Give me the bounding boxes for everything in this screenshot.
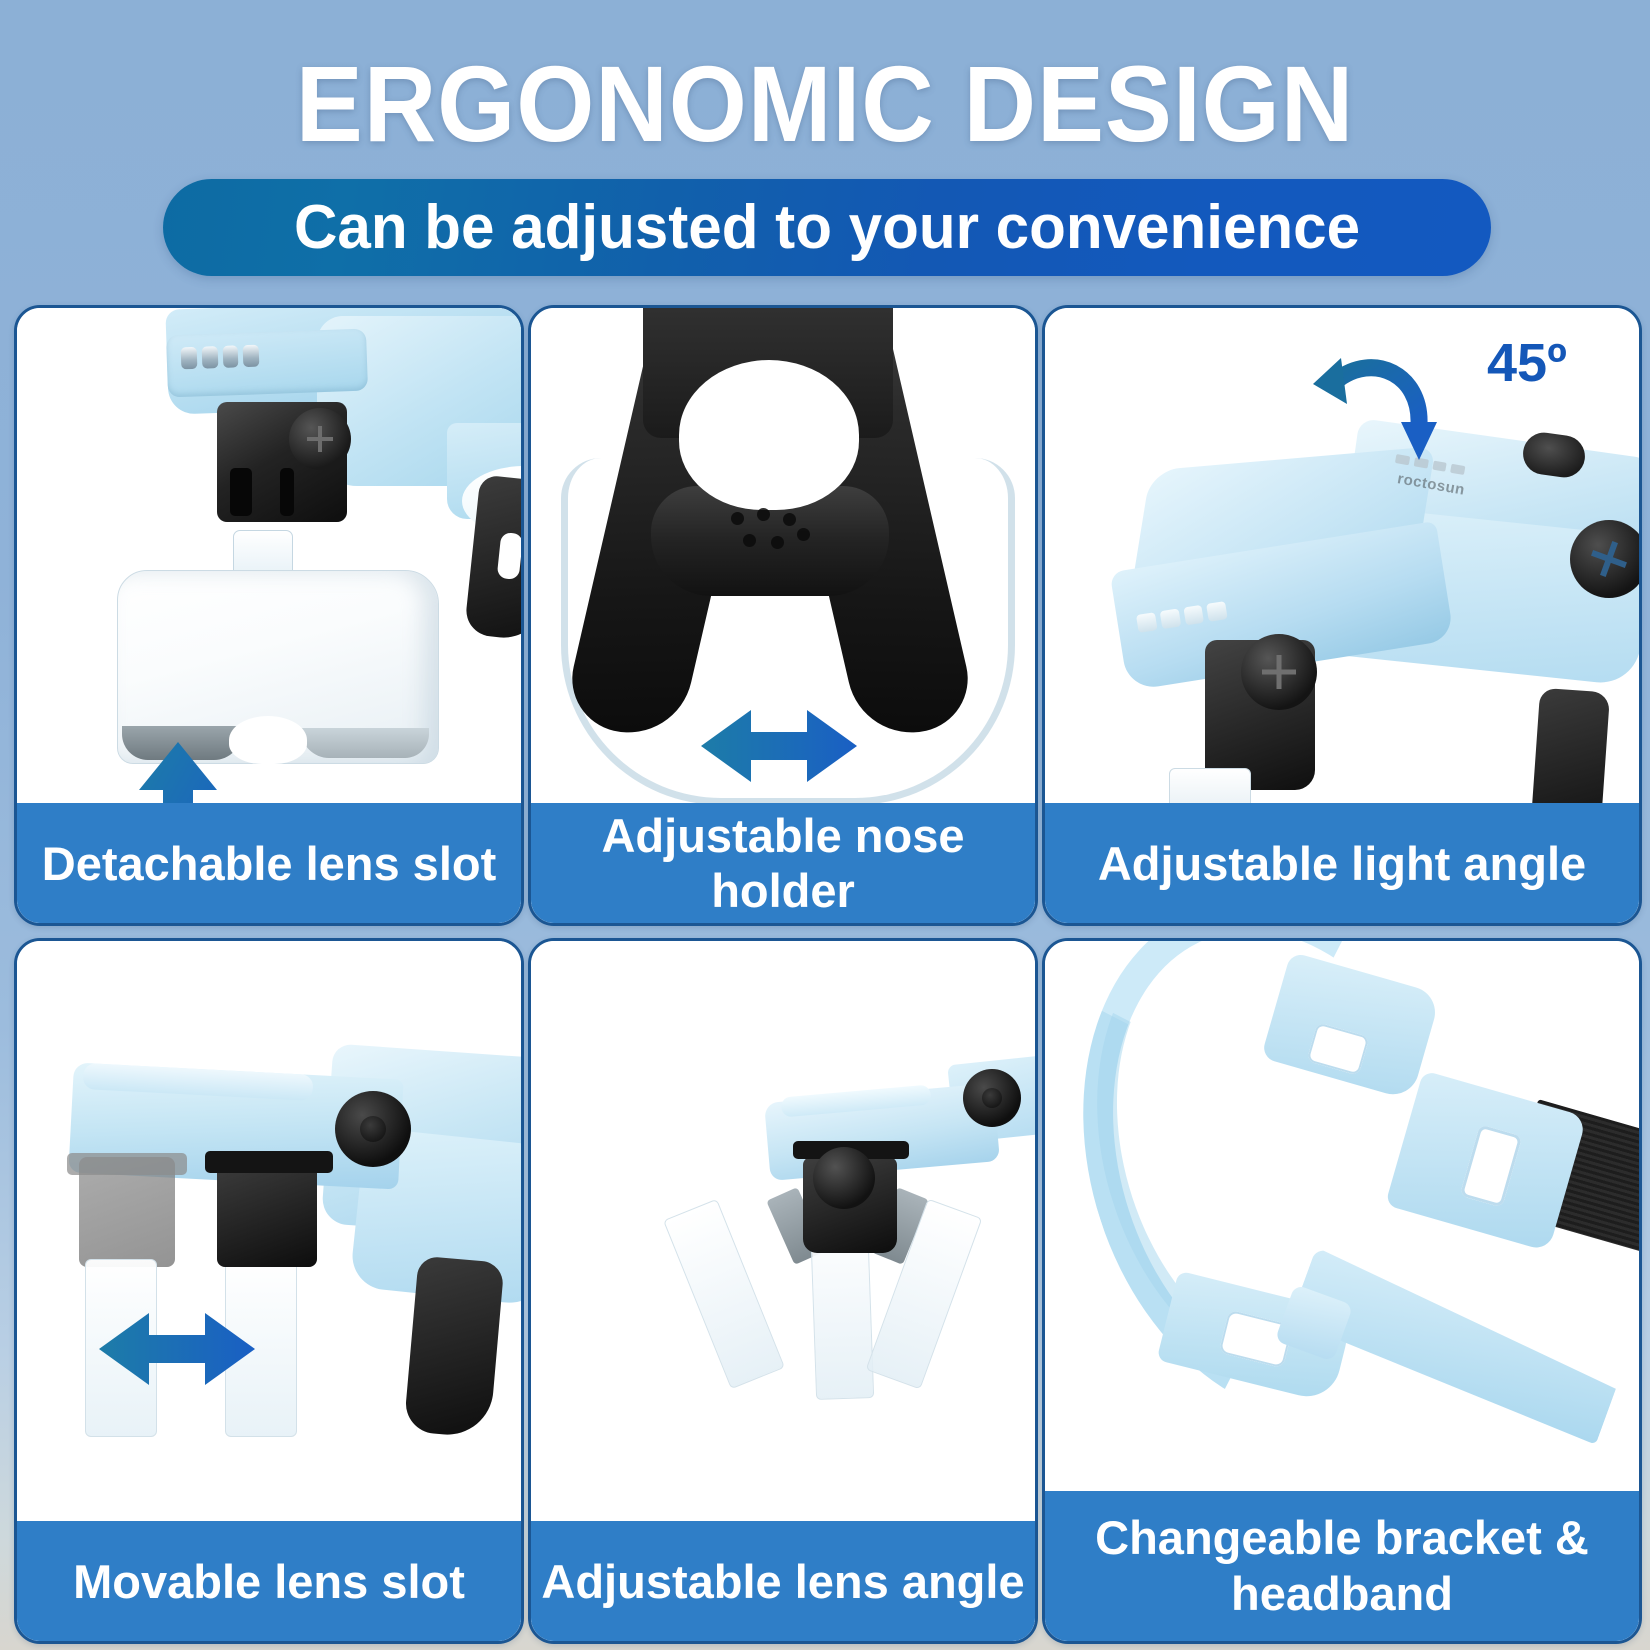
- texture-dots: [727, 508, 819, 554]
- caption-text: Adjustable light angle: [1098, 836, 1586, 891]
- caption-movable-lens-slot: Movable lens slot: [17, 1521, 521, 1641]
- curved-rotation-arrow-icon: [1303, 344, 1443, 474]
- caption-text-line1: Changeable bracket &: [1095, 1510, 1589, 1566]
- panel-adjustable-light-angle[interactable]: roctosun 45º Adjustable light angle: [1042, 305, 1642, 926]
- caption-adjustable-light-angle: Adjustable light angle: [1045, 803, 1639, 923]
- hinge-screw-icon: [1241, 634, 1317, 710]
- panel-changeable-bracket-headband[interactable]: Changeable bracket & headband: [1042, 938, 1642, 1644]
- panel-adjustable-nose-holder[interactable]: Adjustable nose holder: [528, 305, 1038, 926]
- caption-changeable-bracket-headband: Changeable bracket & headband: [1045, 1491, 1639, 1641]
- panel-movable-lens-slot[interactable]: Movable lens slot: [14, 938, 524, 1644]
- panel-detachable-lens-slot[interactable]: Detachable lens slot: [14, 305, 524, 926]
- angle-annotation: 45º: [1487, 332, 1567, 394]
- caption-detachable-lens-slot: Detachable lens slot: [17, 803, 521, 923]
- feature-grid: Detachable lens slot: [0, 0, 1650, 1650]
- horizontal-double-arrow-icon: [97, 1309, 257, 1389]
- caption-text: Detachable lens slot: [42, 836, 497, 891]
- caption-text: Movable lens slot: [73, 1554, 465, 1609]
- focus-dial-icon: [963, 1069, 1021, 1127]
- screw-knob-icon: [289, 408, 351, 470]
- screw-knob-icon: [1570, 520, 1639, 598]
- caption-adjustable-nose-holder: Adjustable nose holder: [531, 803, 1035, 923]
- panel-adjustable-lens-angle[interactable]: Adjustable lens angle: [528, 938, 1038, 1644]
- led-lights-icon: [181, 345, 260, 370]
- hinge-screw-icon: [813, 1147, 875, 1209]
- horizontal-double-arrow-icon: [699, 706, 859, 786]
- caption-adjustable-lens-angle: Adjustable lens angle: [531, 1521, 1035, 1641]
- caption-text-line2: headband: [1095, 1566, 1589, 1622]
- caption-text: Adjustable nose holder: [531, 808, 1035, 918]
- caption-text: Adjustable lens angle: [541, 1554, 1024, 1609]
- focus-dial-icon: [335, 1091, 411, 1167]
